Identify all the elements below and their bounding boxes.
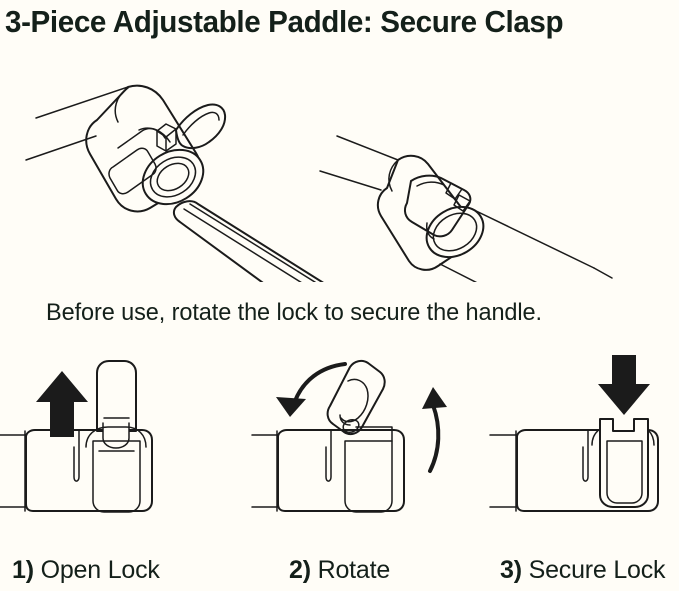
instruction-card: 3-Piece Adjustable Paddle: Secure Clasp <box>0 0 679 591</box>
paddle-shaft-open-clasp-detached <box>26 86 225 216</box>
step-3-diagram <box>490 355 658 511</box>
detached-shaft-section <box>174 201 330 282</box>
step-2-label: 2) Rotate <box>289 552 390 588</box>
clasp-lever-rotating <box>328 361 385 434</box>
arrow-down-icon <box>598 355 650 415</box>
step-1-diagram <box>0 361 152 512</box>
arrow-up-icon <box>36 371 88 437</box>
rotate-arrow-right-icon <box>422 387 447 471</box>
step-3-label: 3) Secure Lock <box>500 552 665 588</box>
instruction-caption: Before use, rotate the lock to secure th… <box>46 296 654 330</box>
step-1-number: 1) <box>12 556 34 584</box>
clasp-collar-ring <box>133 139 214 215</box>
clasp-post <box>157 124 176 151</box>
step-1-label: 1) Open Lock <box>12 552 160 588</box>
step-3-text: Secure Lock <box>529 556 666 584</box>
rotate-arrow-left-icon <box>276 364 345 417</box>
step-2-text: Rotate <box>318 556 390 584</box>
page-title: 3-Piece Adjustable Paddle: Secure Clasp <box>5 0 647 44</box>
step-2-number: 2) <box>289 556 311 584</box>
hero-illustration-row <box>0 52 679 282</box>
clasp-lever-raised <box>97 361 136 431</box>
step-diagram-row <box>0 355 679 545</box>
step-3-number: 3) <box>500 556 522 584</box>
clasp-lever-pressed-closed <box>600 419 648 507</box>
step-1-text: Open Lock <box>41 556 160 584</box>
clasp-pivot <box>103 421 129 448</box>
paddle-shaft-closed-clasp-assembled <box>320 136 612 282</box>
step-2-diagram <box>252 361 447 512</box>
clasp-lever-open <box>176 104 225 148</box>
